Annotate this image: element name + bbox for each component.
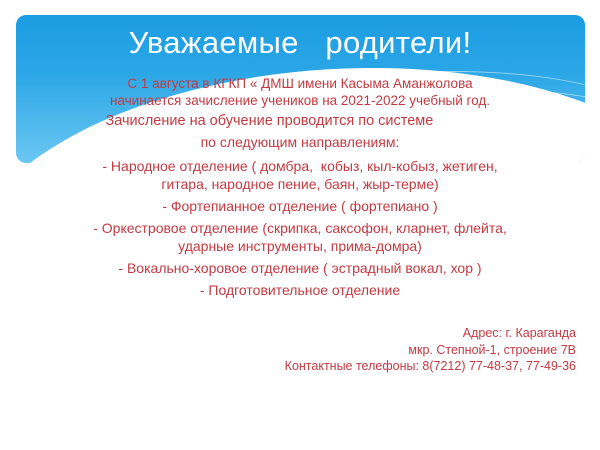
department-item: ударные инструменты, прима-домра) bbox=[0, 237, 600, 255]
department-item: - Народное отделение ( домбра, кобыз, кы… bbox=[0, 157, 600, 175]
department-item: - Оркестровое отделение (скрипка, саксоф… bbox=[0, 219, 600, 237]
announcement-body: С 1 августа в КГКП « ДМШ имени Касыма Ам… bbox=[0, 75, 600, 299]
department-item: - Фортепианное отделение ( фортепиано ) bbox=[0, 197, 600, 215]
department-item: - Вокально-хоровое отделение ( эстрадный… bbox=[0, 259, 600, 277]
enrollment-system-prefix: Зачисление на обучение проводится по сис… bbox=[105, 113, 437, 129]
intro-line-2: начинается зачисление учеников на 2021-2… bbox=[0, 92, 600, 109]
intro-line-1: С 1 августа в КГКП « ДМШ имени Касыма Ам… bbox=[0, 75, 600, 92]
enrollment-system-line: Зачисление на обучение проводится по сис… bbox=[0, 111, 600, 131]
contacts-block: Адрес: г. Караганда мкр. Степной-1, стро… bbox=[156, 325, 576, 375]
address-line-2: мкр. Степной-1, строение 7В bbox=[156, 342, 576, 359]
enrollment-system-name: MINDAL bbox=[437, 113, 494, 129]
page-title: Уважаемые родители! bbox=[0, 26, 600, 60]
announcement-slide: Уважаемые родители! С 1 августа в КГКП «… bbox=[0, 0, 600, 450]
address-line-1: Адрес: г. Караганда bbox=[156, 325, 576, 342]
department-item: - Подготовительное отделение bbox=[0, 281, 600, 299]
directions-header: по следующим направлениям: bbox=[0, 131, 600, 153]
phones-line: Контактные телефоны: 8(7212) 77-48-37, 7… bbox=[156, 358, 576, 375]
department-item: гитара, народное пение, баян, жыр-терме) bbox=[0, 175, 600, 193]
